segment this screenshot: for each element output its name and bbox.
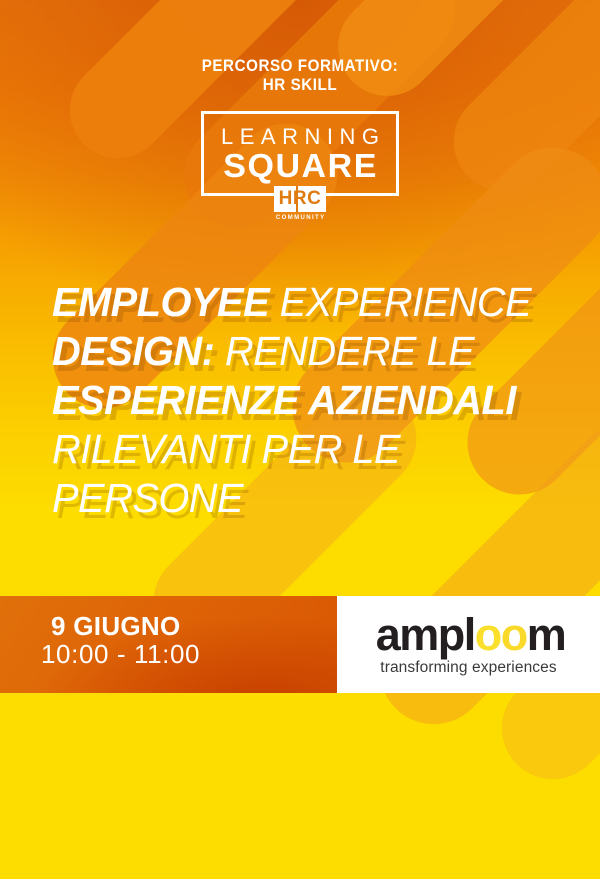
hrc-community-label: COMMUNITY	[275, 215, 326, 221]
event-date: 9 GIUGNO	[51, 611, 181, 641]
headline-segment-5: RILEVANTI PER LE PERSONE	[52, 426, 400, 521]
amploom-tagline: transforming experiences	[380, 659, 556, 677]
amploom-wordmark: amploom	[376, 612, 566, 658]
poster-root: PERCORSO FORMATIVO: HR SKILL LEARNING SQ…	[0, 0, 600, 879]
page-title: EMPLOYEE EXPERIENCE DESIGN: RENDERE LE E…	[52, 278, 556, 523]
sponsor-logo-panel: amploom transforming experiences	[337, 596, 600, 693]
hrc-logo-mark: HRC	[274, 186, 327, 212]
kicker-text: PERCORSO FORMATIVO: HR SKILL	[24, 57, 576, 95]
headline-segment-0: EMPLOYEE	[52, 279, 269, 325]
headline-segment-2: DESIGN:	[52, 328, 214, 374]
headline-segment-1: EXPERIENCE	[269, 279, 531, 325]
hrc-community-badge: HRC COMMUNITY	[272, 186, 328, 221]
event-date-bar: 9 GIUGNO 10:00 - 11:00	[0, 596, 337, 693]
amploom-o-second: o	[501, 609, 527, 660]
event-time: 10:00 - 11:00	[41, 639, 200, 669]
learning-square-line-1: LEARNING	[215, 124, 386, 149]
amploom-part-2: m	[527, 609, 566, 660]
amploom-part-1: ampl	[376, 609, 475, 660]
kicker-line-1: PERCORSO FORMATIVO:	[24, 57, 576, 76]
headline-segment-4: ESPERIENZE AZIENDALI	[52, 377, 516, 423]
headline-segment-3: RENDERE LE	[214, 328, 474, 374]
amploom-o-first: o	[475, 609, 501, 660]
learning-square-logo: LEARNING SQUARE	[201, 111, 399, 196]
learning-square-line-2: SQUARE	[222, 149, 378, 183]
kicker-line-2: HR SKILL	[24, 76, 576, 95]
